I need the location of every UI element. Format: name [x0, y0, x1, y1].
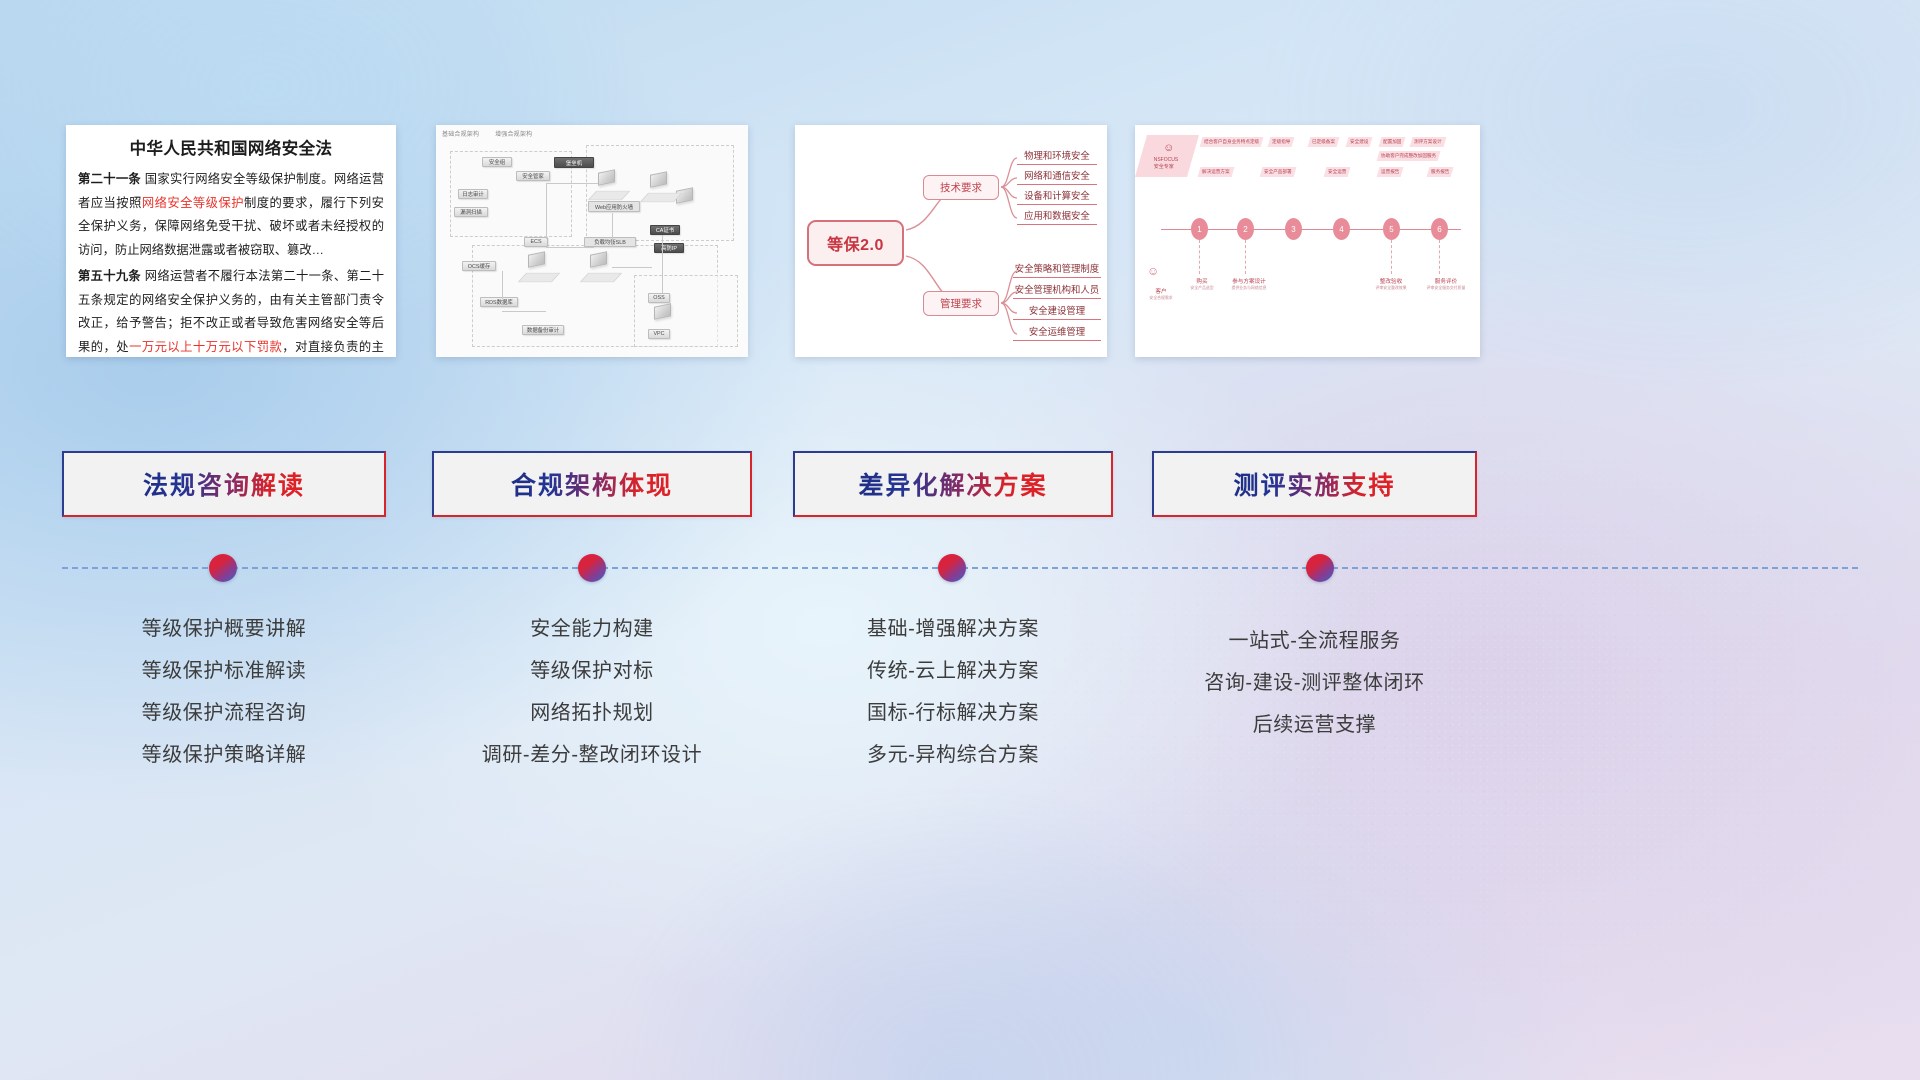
label-differentiated-solution[interactable]: 差异化解决方案	[793, 451, 1113, 517]
roadmap-bottom-tag[interactable]: 整改验收评审安全整改效果	[1363, 277, 1419, 291]
architecture-diagram-card[interactable]: 基础合规架构 增强合规架构 堡垒机 安全管家 日志审计 漏洞扫描 Web应用防火…	[436, 125, 748, 357]
timeline-dot-2[interactable]	[578, 554, 606, 582]
list-item: 等级保护策略详解	[62, 734, 386, 776]
architecture-node[interactable]: OCS缓存	[462, 261, 496, 271]
list-item: 一站式-全流程服务	[1152, 620, 1477, 662]
roadmap-bottom-tag[interactable]: 参与方案设计提供业务与网络信息	[1223, 277, 1275, 291]
roadmap-customer-label: 客户 安全合规需求	[1139, 287, 1183, 301]
architecture-connector	[502, 271, 503, 299]
law-text-card[interactable]: 中华人民共和国网络安全法 第二十一条 国家实行网络安全等级保护制度。网络运营者应…	[66, 125, 396, 357]
column-regulation-consulting: 等级保护概要讲解 等级保护标准解读 等级保护流程咨询 等级保护策略详解	[62, 608, 386, 776]
roadmap-step-number[interactable]: 3	[1285, 218, 1302, 240]
roadmap-bottom-tag[interactable]: 购买安全产品选型	[1183, 277, 1221, 291]
column-assessment-support: 一站式-全流程服务 咨询-建设-测评整体闭环 后续运营支撑	[1152, 620, 1477, 746]
roadmap-stage-tag[interactable]: 安全运营	[1324, 167, 1351, 177]
list-item: 网络拓扑规划	[432, 692, 752, 734]
architecture-node[interactable]: VPC	[648, 329, 670, 339]
architecture-node[interactable]: OSS	[648, 293, 670, 303]
list-item: 传统-云上解决方案	[793, 650, 1113, 692]
roadmap-bottom-tag[interactable]: 服务评价评审安全服务交付质量	[1418, 277, 1474, 291]
architecture-connector	[546, 183, 547, 239]
mindmap-canvas: 等保2.0 技术要求 物理和环境安全 网络和通信安全 设备和计算安全 应用和数据…	[795, 125, 1107, 357]
architecture-connector	[546, 183, 598, 184]
roadmap-top-tag[interactable]: 安全建设	[1346, 137, 1373, 147]
roadmap-stage-tag[interactable]: 解决运营方案	[1198, 167, 1234, 177]
label-assessment-support[interactable]: 测评实施支持	[1152, 451, 1477, 517]
timeline-dot-1[interactable]	[209, 554, 237, 582]
roadmap-top-tag[interactable]: 配置加固	[1379, 137, 1406, 147]
architecture-node[interactable]: RDS数据库	[480, 297, 518, 307]
architecture-connector	[502, 311, 546, 312]
column-differentiated-solution: 基础-增强解决方案 传统-云上解决方案 国标-行标解决方案 多元-异构综合方案	[793, 608, 1113, 776]
law-run-highlight: 一万元以上十万元以下罚款	[129, 340, 282, 354]
column-compliance-architecture: 安全能力构建 等级保护对标 网络拓扑规划 调研-差分-整改闭环设计	[432, 608, 752, 776]
list-item: 咨询-建设-测评整体闭环	[1152, 662, 1477, 704]
architecture-node[interactable]: 日志审计	[458, 189, 488, 199]
architecture-canvas: 基础合规架构 增强合规架构 堡垒机 安全管家 日志审计 漏洞扫描 Web应用防火…	[436, 125, 748, 357]
list-item: 等级保护标准解读	[62, 650, 386, 692]
list-item: 国标-行标解决方案	[793, 692, 1113, 734]
architecture-node[interactable]: 负载均衡SLB	[584, 237, 636, 247]
mindmap-leaf[interactable]: 安全管理机构和人员	[1013, 282, 1101, 299]
roadmap-top-tag[interactable]: 协助客户完成整改加固服务	[1377, 151, 1441, 161]
architecture-node[interactable]: 堡垒机	[554, 157, 594, 168]
timeline-dot-3[interactable]	[938, 554, 966, 582]
architecture-node[interactable]: 高防IP	[654, 243, 684, 253]
architecture-connector	[612, 267, 652, 268]
roadmap-top-tag[interactable]: 已定级备案	[1308, 137, 1340, 147]
roadmap-top-tag[interactable]: 定级指导	[1268, 137, 1295, 147]
customer-sub: 安全合规需求	[1149, 295, 1172, 300]
mindmap-leaf[interactable]: 安全策略和管理制度	[1013, 261, 1101, 278]
architecture-header-segment: 基础合规架构	[442, 132, 479, 138]
roadmap-step-number[interactable]: 2	[1237, 218, 1254, 240]
mindmap-card[interactable]: 等保2.0 技术要求 物理和环境安全 网络和通信安全 设备和计算安全 应用和数据…	[795, 125, 1107, 357]
roadmap-stage-tag[interactable]: 安全产品部署	[1260, 167, 1296, 177]
list-item: 等级保护概要讲解	[62, 608, 386, 650]
list-item: 后续运营支撑	[1152, 704, 1477, 746]
list-item: 多元-异构综合方案	[793, 734, 1113, 776]
label-text: 差异化解决方案	[858, 466, 1047, 502]
law-title: 中华人民共和国网络安全法	[78, 135, 384, 159]
roadmap-top-tag[interactable]: 结合客户自身业务特点定级	[1200, 137, 1264, 147]
label-text: 合规架构体现	[511, 466, 673, 502]
list-item: 安全能力构建	[432, 608, 752, 650]
mindmap-branch-management-connectors	[795, 125, 1107, 357]
architecture-header: 基础合规架构 增强合规架构	[442, 129, 546, 138]
mindmap-leaf[interactable]: 安全运维管理	[1013, 324, 1101, 341]
roadmap-step-dashed-link	[1245, 240, 1246, 274]
label-text: 法规咨询解读	[143, 466, 305, 502]
roadmap-stage-tag[interactable]: 服务报告	[1427, 167, 1454, 177]
mindmap-leaf[interactable]: 安全建设管理	[1013, 303, 1101, 320]
architecture-node[interactable]: ECS	[524, 237, 548, 247]
expert-role: 安全专家	[1154, 164, 1174, 171]
list-item: 等级保护流程咨询	[62, 692, 386, 734]
roadmap-step-dashed-link	[1439, 240, 1440, 274]
law-text-body: 中华人民共和国网络安全法 第二十一条 国家实行网络安全等级保护制度。网络运营者应…	[66, 125, 396, 357]
label-text: 测评实施支持	[1233, 466, 1395, 502]
architecture-node[interactable]: 安全管家	[516, 171, 550, 181]
roadmap-step-dashed-link	[1391, 240, 1392, 274]
architecture-node[interactable]: Web应用防火墙	[588, 201, 640, 212]
architecture-header-segment: 增强合规架构	[495, 132, 532, 138]
list-item: 等级保护对标	[432, 650, 752, 692]
roadmap-top-tag[interactable]: 测评方案设计	[1410, 137, 1446, 147]
list-item: 调研-差分-整改闭环设计	[432, 734, 752, 776]
law-article-number: 第二十一条	[78, 172, 141, 186]
law-paragraph: 第二十一条 国家实行网络安全等级保护制度。网络运营者应当按照网络安全等级保护制度…	[78, 168, 384, 263]
timeline-dot-4[interactable]	[1306, 554, 1334, 582]
architecture-node[interactable]: 漏洞扫描	[454, 207, 488, 217]
label-compliance-architecture[interactable]: 合规架构体现	[432, 451, 752, 517]
architecture-node[interactable]: 数据备份审计	[522, 325, 564, 335]
roadmap-step-number[interactable]: 5	[1383, 218, 1400, 240]
architecture-node[interactable]: CA证书	[650, 225, 680, 235]
roadmap-step-dashed-link	[1199, 240, 1200, 274]
architecture-connector	[662, 235, 663, 293]
expert-person-icon: ☺	[1163, 141, 1174, 156]
law-paragraph: 第五十九条 网络运营者不履行本法第二十一条、第二十五条规定的网络安全保护义务的，…	[78, 265, 384, 357]
roadmap-step-number[interactable]: 1	[1191, 218, 1208, 240]
list-item: 基础-增强解决方案	[793, 608, 1113, 650]
roadmap-canvas: ☺ NSFOCUS 安全专家 结合客户自身业务特点定级 定级指导 已定级备案 安…	[1135, 125, 1480, 357]
label-regulation-consulting[interactable]: 法规咨询解读	[62, 451, 386, 517]
roadmap-card[interactable]: ☺ NSFOCUS 安全专家 结合客户自身业务特点定级 定级指导 已定级备案 安…	[1135, 125, 1480, 357]
architecture-node[interactable]: 安全组	[482, 157, 512, 167]
roadmap-stage-tag[interactable]: 运营报告	[1377, 167, 1404, 177]
customer-person-icon: ☺	[1147, 265, 1159, 277]
expert-name: NSFOCUS	[1154, 157, 1178, 164]
architecture-connector	[612, 213, 613, 247]
roadmap-step-number[interactable]: 6	[1431, 218, 1448, 240]
law-run-highlight: 网络安全等级保护	[142, 196, 244, 210]
law-article-number: 第五十九条	[78, 269, 141, 283]
roadmap-expert-badge[interactable]: ☺ NSFOCUS 安全专家	[1135, 135, 1199, 177]
architecture-connector	[546, 247, 594, 248]
roadmap-step-number[interactable]: 4	[1333, 218, 1350, 240]
